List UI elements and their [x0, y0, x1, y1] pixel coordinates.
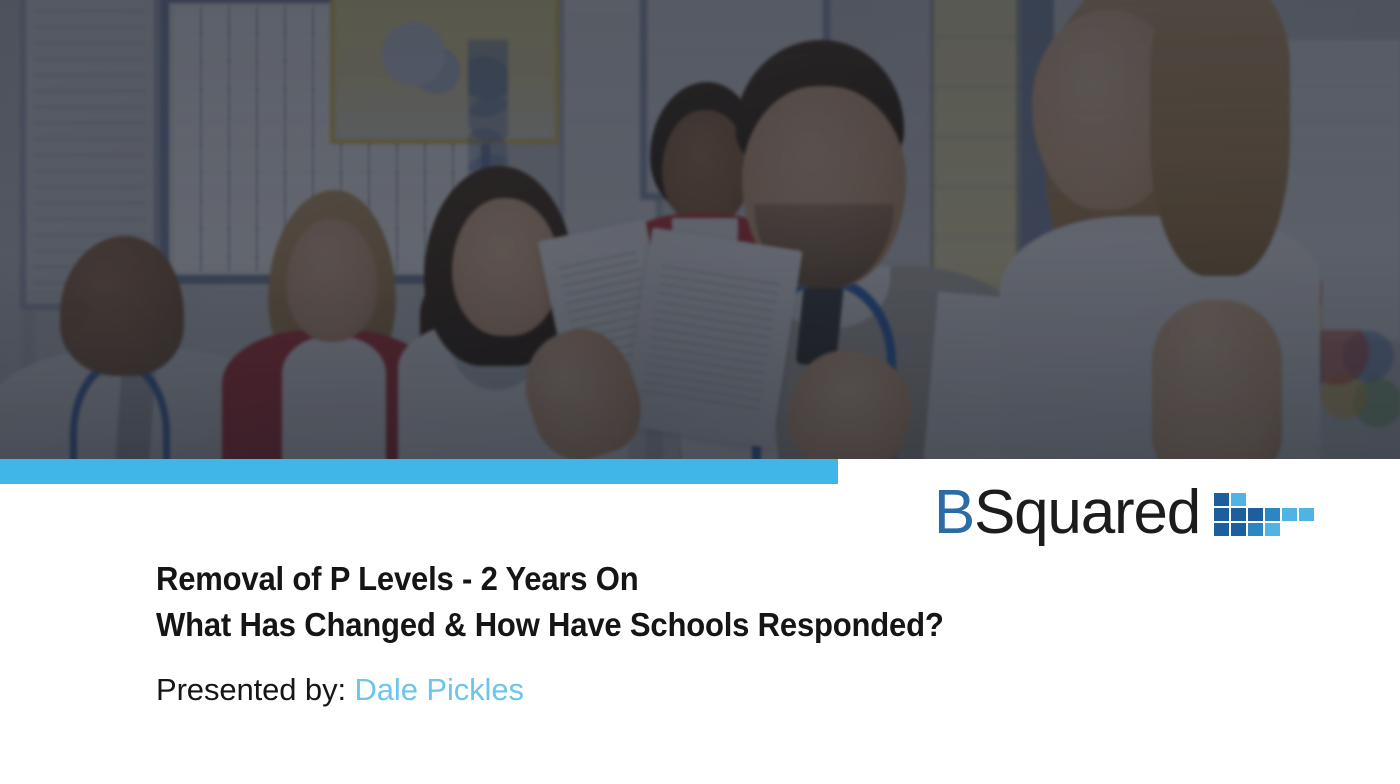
title-line-1: Removal of P Levels - 2 Years On: [156, 556, 944, 602]
presenter-name: Dale Pickles: [355, 672, 524, 707]
bsquared-logo: BSquared: [934, 482, 1312, 544]
page-title: Removal of P Levels - 2 Years On What Ha…: [156, 556, 994, 647]
logo-word-squared: Squared: [974, 478, 1200, 547]
logo-squares-icon: [1214, 493, 1312, 539]
blue-accent-bar: [0, 459, 838, 484]
logo-square-1-1: [1214, 493, 1229, 506]
logo-square-2-1: [1214, 508, 1229, 521]
logo-square-1-2: [1231, 493, 1246, 506]
logo-square-2-2: [1231, 508, 1246, 521]
logo-square-2-3: [1248, 508, 1263, 521]
logo-square-3-2: [1231, 523, 1246, 536]
logo-square-2-4: [1265, 508, 1280, 521]
hero-classroom-photo: [0, 0, 1400, 459]
presenter-line: Presented by: Dale Pickles: [156, 674, 524, 705]
logo-square-2-6: [1299, 508, 1314, 521]
bsquared-wordmark: BSquared: [934, 482, 1200, 544]
slide-content-area: BSquared Removal of P Levels - 2 Years O…: [0, 484, 1400, 784]
logo-square-3-3: [1248, 523, 1263, 536]
title-line-2: What Has Changed & How Have Schools Resp…: [156, 602, 944, 648]
logo-square-3-4: [1265, 523, 1280, 536]
logo-letter-b: B: [934, 478, 974, 547]
presentation-title-slide: BSquared Removal of P Levels - 2 Years O…: [0, 0, 1400, 784]
photo-gradient-overlay: [0, 0, 1400, 459]
hero-photo-scene: [0, 0, 1400, 459]
presenter-label: Presented by:: [156, 672, 346, 707]
logo-square-2-5: [1282, 508, 1297, 521]
logo-square-3-1: [1214, 523, 1229, 536]
